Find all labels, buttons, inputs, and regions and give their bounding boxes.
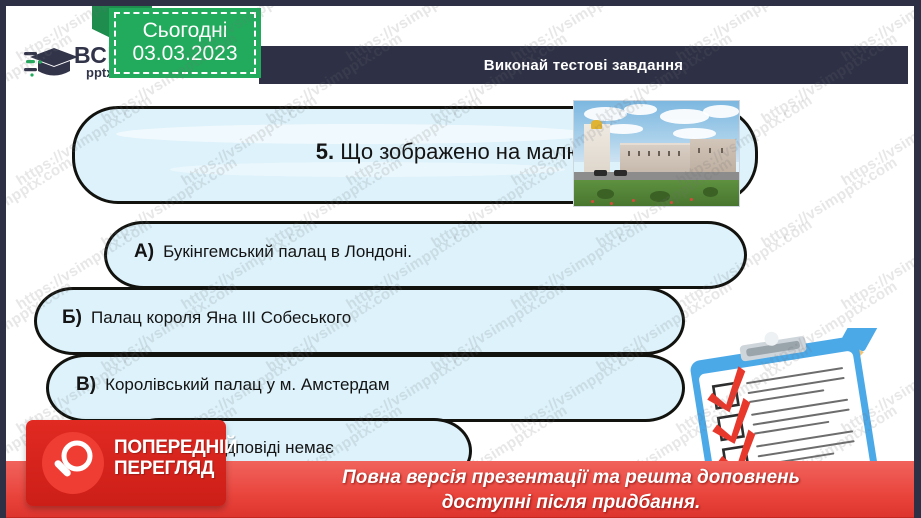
photo-window xyxy=(698,148,700,153)
photo-memorial-statue xyxy=(591,120,603,129)
photo-window xyxy=(668,151,670,156)
photo-flower xyxy=(591,200,594,203)
question-image-buckingham-palace xyxy=(573,100,740,207)
answer-label-b: Палац короля Яна ІІІ Собеського xyxy=(91,308,351,328)
photo-window xyxy=(709,148,711,153)
answer-option-c[interactable]: В) Королівський палац у м. Амстердам xyxy=(76,354,390,416)
purchase-banner-line1: Повна версія презентації та решта доповн… xyxy=(246,465,896,490)
photo-flower xyxy=(632,199,635,202)
preview-badge-line1: ПОПЕРЕДНІЙ xyxy=(114,438,237,459)
preview-badge-text: ПОПЕРЕДНІЙ ПЕРЕГЛЯД xyxy=(114,438,237,479)
today-badge-date: 03.03.2023 xyxy=(132,42,237,66)
preview-badge-circle xyxy=(42,432,104,494)
photo-car xyxy=(614,170,627,175)
watermark-text: https://vsimpptx.com xyxy=(838,92,914,190)
photo-cloud xyxy=(584,107,627,121)
magnifier-icon xyxy=(42,432,104,494)
photo-victoria-memorial xyxy=(584,124,610,174)
slide-canvas: 5. Що зображено на малюнку? xyxy=(6,6,914,518)
today-badge-label: Сьогодні xyxy=(143,19,228,42)
slide-header-bar: Виконай тестові завдання xyxy=(259,46,908,84)
answer-letter-a: А) xyxy=(134,241,154,263)
preview-badge: ПОПЕРЕДНІЙ ПЕРЕГЛЯД xyxy=(26,420,226,506)
purchase-banner-text: Повна версія презентації та решта доповн… xyxy=(246,465,896,515)
watermark-text: https://vsimpptx.com xyxy=(838,216,914,314)
photo-cloud xyxy=(624,104,657,115)
answer-label-a: Букінгемський палац в Лондоні. xyxy=(163,242,412,262)
purchase-banner-line2: доступні після придбання. xyxy=(246,490,896,515)
photo-flower xyxy=(690,198,693,201)
watermark-text: https://vsimpptx.com xyxy=(6,154,75,252)
photo-cloud xyxy=(703,105,739,118)
answer-label-c: Королівський палац у м. Амстердам xyxy=(105,375,390,395)
photo-car xyxy=(594,170,607,175)
photo-flower xyxy=(670,201,673,204)
today-badge: Сьогодні 03.03.2023 xyxy=(109,8,261,78)
photo-window xyxy=(628,151,630,156)
photo-window xyxy=(648,151,650,156)
answer-option-b[interactable]: Б) Палац короля Яна ІІІ Собеського xyxy=(62,287,351,349)
answer-option-a[interactable]: А) Букінгемський палац в Лондоні. xyxy=(134,221,412,283)
photo-bush xyxy=(597,189,614,198)
question-text: 5. Що зображено на малюнку? xyxy=(196,139,629,165)
watermark-text: https://vsimpptx.com xyxy=(758,154,900,252)
photo-window xyxy=(721,148,723,153)
graduation-cap-icon xyxy=(24,46,80,82)
photo-window xyxy=(658,151,660,156)
preview-badge-line2: ПЕРЕГЛЯД xyxy=(114,459,237,480)
answer-letter-c: В) xyxy=(76,374,96,396)
photo-cloud xyxy=(673,128,716,139)
photo-window xyxy=(638,151,640,156)
photo-window xyxy=(678,151,680,156)
slide-header-title: Виконай тестові завдання xyxy=(484,57,683,74)
photo-bush xyxy=(703,187,718,196)
presentation-slide: 5. Що зображено на малюнку? xyxy=(0,0,921,518)
photo-palace-wing xyxy=(690,139,736,175)
photo-bush xyxy=(650,191,670,202)
answer-letter-b: Б) xyxy=(62,307,82,329)
